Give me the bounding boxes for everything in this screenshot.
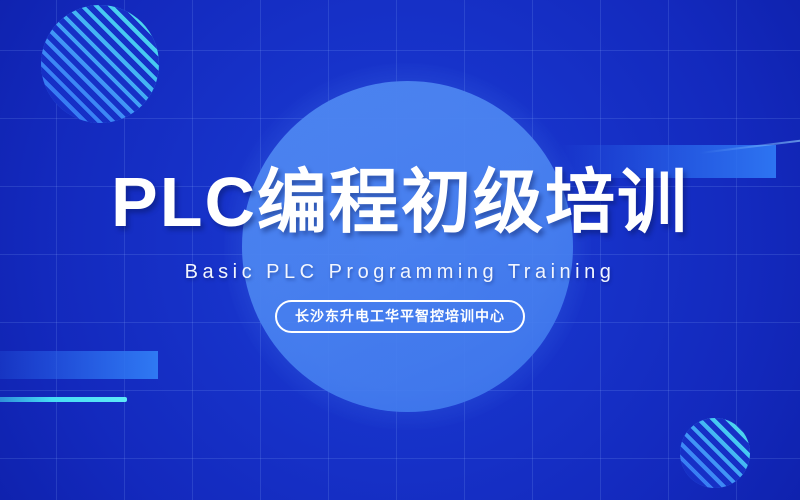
banner-content: PLC编程初级培训 Basic PLC Programming Training… xyxy=(0,0,800,500)
promo-banner: PLC编程初级培训 Basic PLC Programming Training… xyxy=(0,0,800,500)
organization-badge: 长沙东升电工华平智控培训中心 xyxy=(275,300,525,333)
banner-title-chinese: PLC编程初级培训 xyxy=(111,167,689,237)
banner-subtitle-english: Basic PLC Programming Training xyxy=(185,261,616,284)
